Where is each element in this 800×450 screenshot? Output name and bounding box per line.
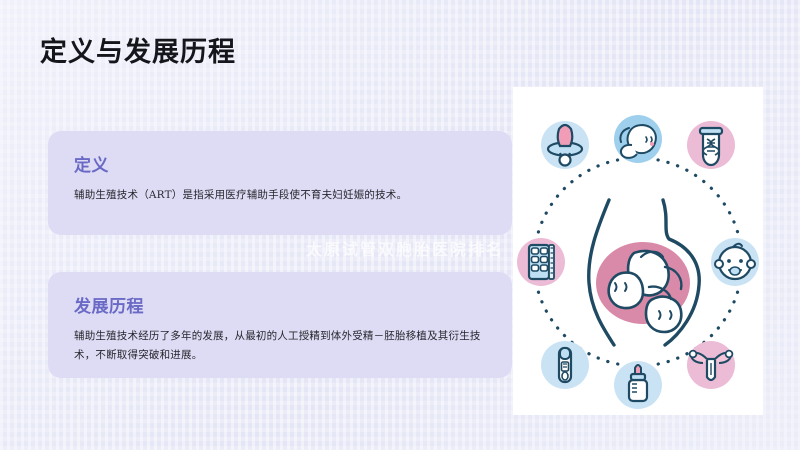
baby-face-icon xyxy=(711,238,759,286)
pregnancy-test-icon xyxy=(541,341,589,389)
watermark-text: 太原试管双胞胎医院排名 xyxy=(306,236,504,260)
pacifier-icon xyxy=(541,121,589,169)
card-history-body: 辅助生殖技术经历了多年的发展，从最初的人工授精到体外受精－胚胎移植及其衍生技术，… xyxy=(74,327,486,366)
dna-test-tube-icon xyxy=(687,121,735,169)
uterus-icon xyxy=(687,341,735,389)
page-title: 定义与发展历程 xyxy=(40,30,236,69)
slide-root: 定义与发展历程 定义 辅助生殖技术（ART）是指采用医疗辅助手段使不育夫妇妊娠的… xyxy=(0,0,800,450)
art-cycle-illustration xyxy=(513,87,763,415)
fetus-icon xyxy=(614,115,662,163)
pregnant-belly-icon xyxy=(589,200,699,345)
card-definition-body: 辅助生殖技术（ART）是指采用医疗辅助手段使不育夫妇妊娠的技术。 xyxy=(74,186,486,205)
pill-blister-icon xyxy=(517,238,565,286)
card-history-heading: 发展历程 xyxy=(74,292,486,317)
baby-bottle-icon xyxy=(614,361,662,409)
illustration-panel xyxy=(513,87,763,415)
card-definition: 定义 辅助生殖技术（ART）是指采用医疗辅助手段使不育夫妇妊娠的技术。 xyxy=(48,131,512,235)
card-definition-heading: 定义 xyxy=(74,151,486,176)
card-history: 发展历程 辅助生殖技术经历了多年的发展，从最初的人工授精到体外受精－胚胎移植及其… xyxy=(48,272,512,378)
